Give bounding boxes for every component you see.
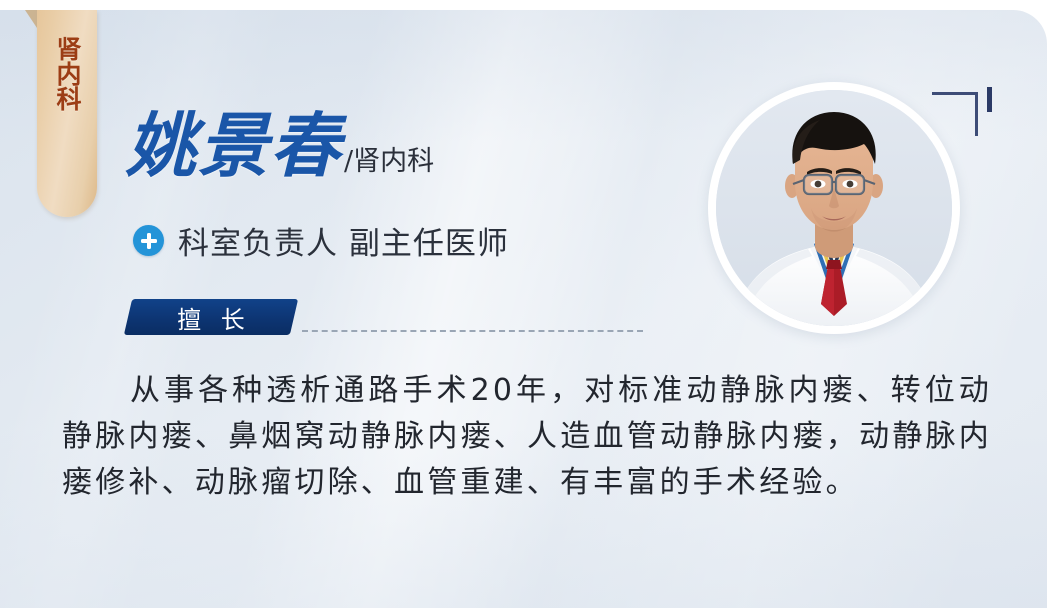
doctor-titles: 科室负责人 副主任医师 (178, 218, 509, 263)
doctor-department-suffix: /肾内科 (344, 148, 434, 175)
plus-circle-icon (133, 225, 164, 256)
doctor-portrait (708, 82, 960, 334)
portrait-illustration (716, 90, 952, 326)
specialty-description: 从事各种透析通路手术20年，对标准动静脉内瘘、转位动静脉内瘘、鼻烟窝动静脉内瘘、… (62, 368, 992, 506)
corner-bracket-decoration (932, 86, 992, 136)
corner-bracket-horizontal-icon (932, 92, 978, 95)
corner-bracket-vertical-icon (975, 92, 978, 136)
specialty-header: 擅 长 (128, 299, 648, 335)
doctor-portrait-image (716, 90, 952, 326)
corner-tick-icon (987, 87, 992, 112)
specialty-badge-label: 擅 长 (128, 299, 294, 335)
department-ribbon-label: 肾内科 (44, 36, 90, 111)
doctor-name-row: 姚景春 /肾内科 (126, 111, 434, 181)
profile-card: 肾内科 姚景春 /肾内科 科室负责人 副主任医师 擅 长 从事各种透析通路手术2… (0, 10, 1047, 608)
ribbon-fold-icon (25, 10, 37, 28)
doctor-title-row: 科室负责人 副主任医师 (133, 218, 509, 263)
doctor-name: 姚景春 (126, 111, 342, 181)
dashed-divider (302, 330, 643, 332)
department-ribbon: 肾内科 (37, 10, 97, 217)
doctor-profile-banner: 肾内科 姚景春 /肾内科 科室负责人 副主任医师 擅 长 从事各种透析通路手术2… (0, 0, 1047, 608)
specialty-badge: 擅 长 (124, 299, 298, 335)
